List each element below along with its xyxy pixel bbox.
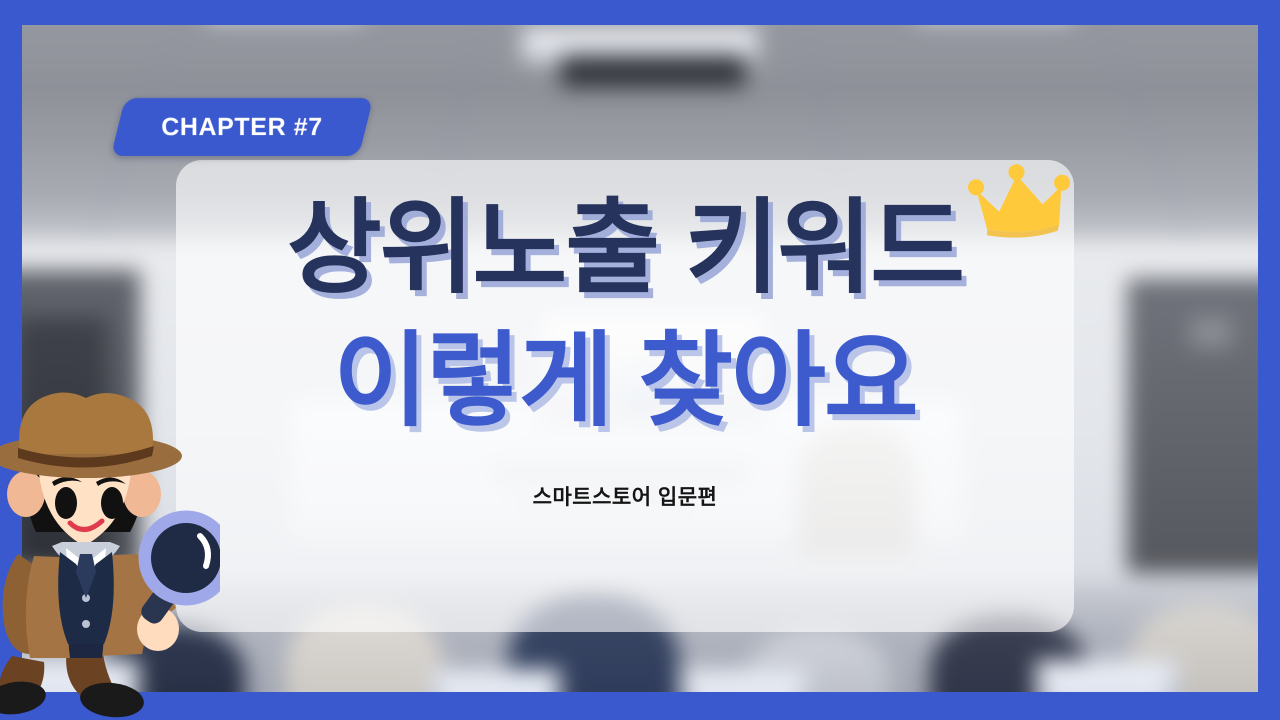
detective-mascot bbox=[0, 386, 220, 720]
thumbnail-canvas: CHAPTER #7 상위노출 키워드 이렇게 찾아요 스마트스토어 입문편 bbox=[0, 0, 1280, 720]
headline-line-2: 이렇게 찾아요 bbox=[176, 323, 1074, 438]
headline-block: 상위노출 키워드 이렇게 찾아요 스마트스토어 입문편 bbox=[176, 190, 1074, 511]
subtitle: 스마트스토어 입문편 bbox=[176, 481, 1074, 511]
chapter-badge-label: CHAPTER #7 bbox=[118, 98, 366, 156]
crown-icon bbox=[964, 157, 1076, 245]
ceiling-mount bbox=[561, 55, 745, 87]
laptop bbox=[429, 669, 561, 692]
laptop bbox=[1035, 660, 1180, 692]
chapter-badge[interactable]: CHAPTER #7 bbox=[111, 98, 373, 156]
wall-speaker bbox=[1190, 317, 1232, 348]
headline-line-1: 상위노출 키워드 bbox=[176, 190, 1074, 305]
laptop bbox=[679, 669, 811, 692]
